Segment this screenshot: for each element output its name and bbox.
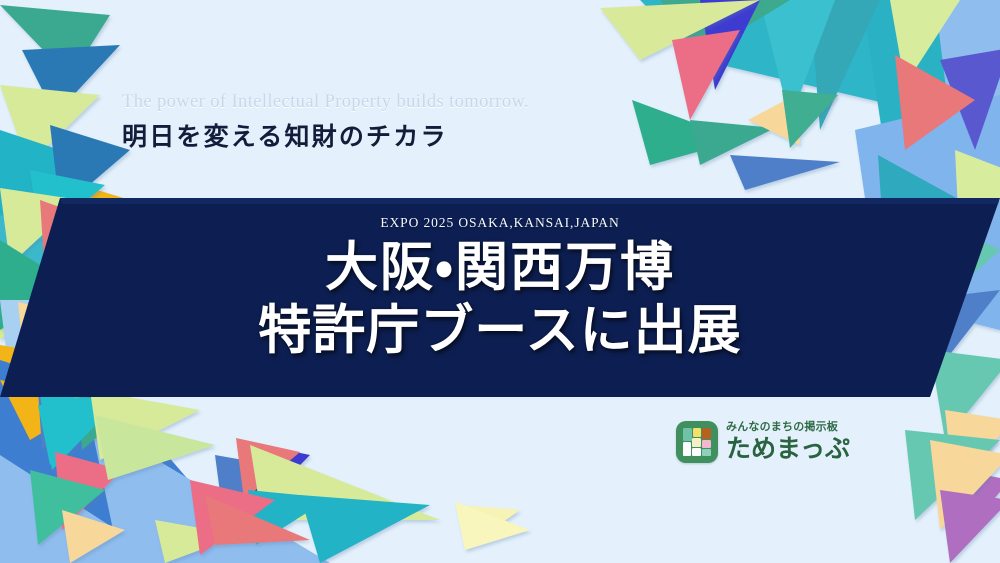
tamemap-tagline: みんなのまちの掲示板 [726,421,850,433]
tagline-english: The power of Intellectual Property build… [122,92,529,113]
tamemap-grid-icon [676,421,718,463]
headline-line-2: 特許庁ブースに出展 [258,299,741,362]
promo-banner-image: EXPO 2025 OSAKA,KANSAI,JAPAN 大阪・関西万博 特許庁… [0,0,1000,563]
tagline-block: The power of Intellectual Property build… [122,92,529,153]
tamemap-logo-text: みんなのまちの掲示板 ためまっぷ [726,421,850,462]
tamemap-name: ためまっぷ [726,435,850,463]
headline-line-1: 大阪・関西万博 [258,236,741,299]
banner-headline: 大阪・関西万博 特許庁ブースに出展 [258,236,741,361]
tagline-japanese: 明日を変える知財のチカラ [122,117,529,153]
tamemap-logo[interactable]: みんなのまちの掲示板 ためまっぷ [676,421,850,463]
expo-eyebrow-text: EXPO 2025 OSAKA,KANSAI,JAPAN [380,215,619,231]
banner-content: EXPO 2025 OSAKA,KANSAI,JAPAN 大阪・関西万博 特許庁… [0,198,1000,397]
